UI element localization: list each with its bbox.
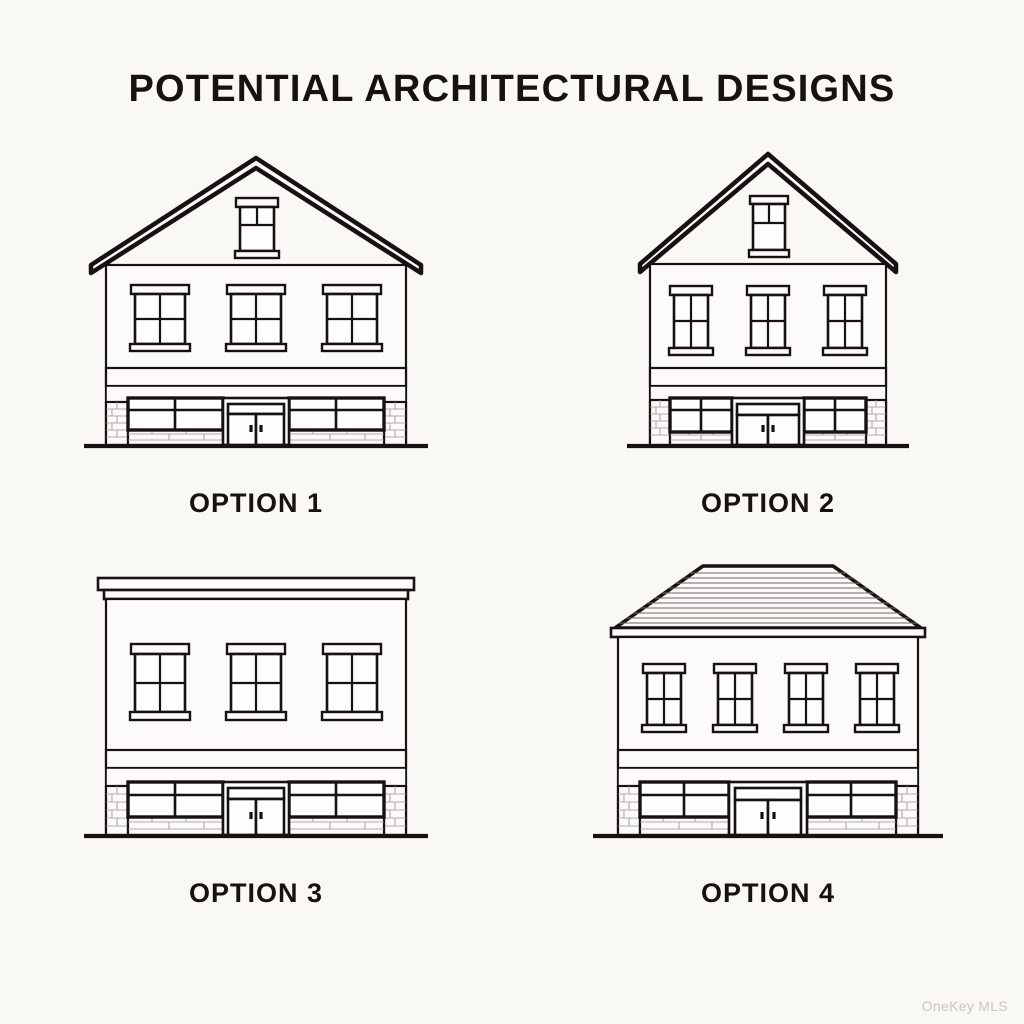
- signage-band: [106, 368, 406, 386]
- upper-window: [823, 286, 867, 355]
- upper-window-group: [669, 286, 867, 355]
- upper-window-group: [130, 285, 382, 351]
- entry-double-door[interactable]: [732, 398, 804, 445]
- entry-double-door[interactable]: [729, 782, 807, 835]
- gable-window: [749, 196, 789, 257]
- entry-double-door[interactable]: [223, 782, 289, 835]
- elevation-drawing-1: [76, 140, 436, 470]
- signage-band: [618, 750, 918, 768]
- upper-window: [226, 644, 286, 720]
- roof-cornice-band: [104, 590, 408, 599]
- option-caption-2: OPTION 2: [701, 488, 835, 519]
- upper-window: [322, 644, 382, 720]
- upper-window: [746, 286, 790, 355]
- upper-window-group: [130, 644, 382, 720]
- brick-pier-right: [896, 786, 918, 835]
- upper-window: [130, 644, 190, 720]
- display-window-right: [804, 398, 866, 432]
- option-card-1[interactable]: OPTION 1: [0, 140, 512, 530]
- brick-pier-left: [106, 786, 128, 835]
- page-title: POTENTIAL ARCHITECTURAL DESIGNS: [0, 68, 1024, 111]
- option-caption-3: OPTION 3: [189, 878, 323, 909]
- elevation-drawing-3: [76, 530, 436, 860]
- option-4-svg: [583, 550, 953, 860]
- upper-window: [855, 664, 899, 732]
- option-2-svg: [613, 140, 923, 470]
- upper-window: [784, 664, 828, 732]
- options-grid: OPTION 1: [0, 140, 1024, 940]
- option-card-3[interactable]: OPTION 3: [0, 530, 512, 920]
- design-sheet: POTENTIAL ARCHITECTURAL DESIGNS: [0, 0, 1024, 1024]
- brick-pier-left: [618, 786, 640, 835]
- brick-pier-right: [866, 400, 886, 445]
- signage-band: [650, 368, 886, 386]
- display-window-right: [807, 782, 896, 817]
- signage-band: [106, 750, 406, 768]
- brick-pier-left: [106, 402, 128, 445]
- brick-pier-right: [384, 402, 406, 445]
- elevation-drawing-4: [583, 530, 953, 860]
- option-1-svg: [76, 140, 436, 470]
- display-window-left: [670, 398, 732, 432]
- display-window-left: [128, 398, 223, 430]
- upper-window: [130, 285, 190, 351]
- display-window-right: [289, 782, 384, 817]
- entry-double-door[interactable]: [223, 398, 289, 445]
- display-window-left: [640, 782, 729, 817]
- upper-window: [322, 285, 382, 351]
- display-window-left: [128, 782, 223, 817]
- brick-pier-left: [650, 400, 670, 445]
- option-card-4[interactable]: OPTION 4: [512, 530, 1024, 920]
- option-caption-1: OPTION 1: [189, 488, 323, 519]
- brick-pier-right: [384, 786, 406, 835]
- roof-cornice-cap: [98, 578, 414, 590]
- upper-window: [642, 664, 686, 732]
- option-3-svg: [76, 560, 436, 860]
- display-window-right: [289, 398, 384, 430]
- gable-window: [235, 198, 279, 258]
- upper-window: [713, 664, 757, 732]
- hip-roof: [611, 566, 925, 637]
- elevation-drawing-2: [613, 140, 923, 470]
- watermark: OneKey MLS: [922, 998, 1008, 1014]
- upper-window: [669, 286, 713, 355]
- upper-window: [226, 285, 286, 351]
- option-caption-4: OPTION 4: [701, 878, 835, 909]
- option-card-2[interactable]: OPTION 2: [512, 140, 1024, 530]
